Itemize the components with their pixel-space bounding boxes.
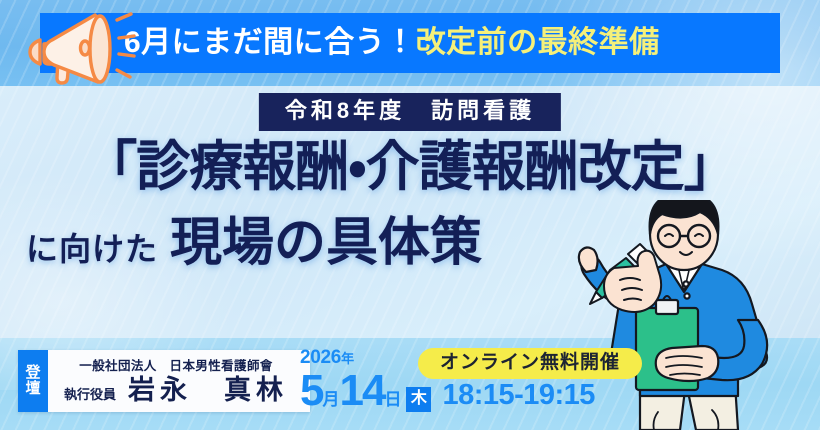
speaker-role: 執行役員 (64, 384, 116, 403)
announcement-text-highlight: 改定前の最終準備 (416, 26, 660, 59)
speaker-tag-char-1: 登 (25, 365, 40, 381)
event-month-unit: 月 (322, 391, 339, 408)
event-year-number: 2026 (300, 347, 341, 368)
event-time: 18:15-19:15 (442, 381, 595, 410)
megaphone-icon (18, 2, 138, 88)
speaker-tag-char-2: 壇 (25, 381, 40, 397)
speaker-name-row: 執行役員 岩永 真林 (64, 377, 288, 404)
headline-line-2: に向けた 現場の具体策 (0, 200, 820, 275)
speaker-organization: 一般社団法人 日本男性看護師會 (64, 359, 288, 374)
season-badge: 令和8年度 訪問看護 (259, 93, 561, 131)
announcement-bar: 6月にまだ間に合う！改定前の最終準備 (40, 13, 780, 73)
headline-block: 「診療報酬・介護報酬改定」 に向けた 現場の具体策 (0, 138, 820, 275)
headline-line-2-big: 現場の具体策 (170, 200, 482, 275)
speaker-name: 岩永 真林 (128, 377, 288, 404)
event-month-number: 5 (300, 369, 322, 413)
announcement-text-plain: 6月にまだ間に合う！ (124, 26, 416, 59)
announcement-text: 6月にまだ間に合う！改定前の最終準備 (124, 28, 660, 58)
season-badge-label: 令和8年度 訪問看護 (285, 100, 535, 122)
event-day-number: 14 (339, 369, 384, 413)
event-day-unit: 日 (384, 391, 401, 408)
free-online-label: オンライン無料開催 (440, 353, 620, 372)
headline-line-1: 「診療報酬・介護報酬改定」 (0, 138, 820, 196)
free-online-badge: オンライン無料開催 (418, 348, 642, 379)
speaker-tag: 登 壇 (18, 350, 48, 412)
hand-holding-pen-icon (580, 228, 676, 324)
event-year-unit: 年 (341, 351, 354, 366)
event-day-of-week: 木 (406, 387, 431, 412)
headline-line-2-small: に向けた (26, 224, 158, 270)
speaker-plate: 登 壇 一般社団法人 日本男性看護師會 執行役員 岩永 真林 (18, 350, 310, 412)
speaker-details: 一般社団法人 日本男性看護師會 執行役員 岩永 真林 (48, 350, 310, 412)
webinar-banner: 6月にまだ間に合う！改定前の最終準備 令和8年度 訪問看護 「診療報酬・介護報酬… (0, 0, 820, 430)
